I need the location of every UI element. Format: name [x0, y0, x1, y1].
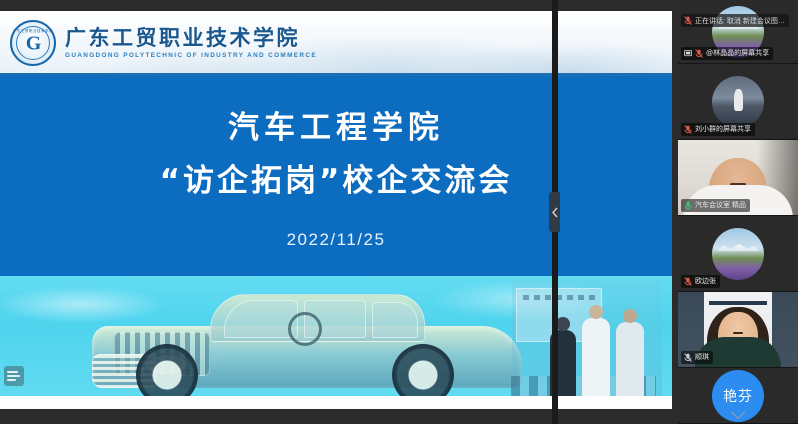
school-logo: 广东工贸职业技术学院 G 广东工贸职业技术学院 GUANGDONG POLYTE… — [10, 20, 317, 66]
participant-badge: 刘小群的屏幕共享 — [681, 123, 755, 136]
participant-tile[interactable]: 欧边张 — [678, 216, 798, 292]
speaking-indicator: 正在讲话: 取消 新建会议图… — [681, 14, 789, 27]
participant-name: 欧边张 — [695, 275, 716, 288]
avatar — [712, 76, 764, 128]
avatar-initial: 艳芬 — [723, 386, 753, 406]
participant-tile[interactable]: 顺琪 — [678, 292, 798, 368]
participant-badge: 欧边张 — [681, 275, 720, 288]
participant-name: 刘小群的屏幕共享 — [695, 123, 751, 136]
school-crest-icon: 广东工贸职业技术学院 G — [10, 20, 56, 66]
slide-title-block: 汽车工程学院 “访企拓岗”校企交流会 2022/11/25 — [0, 76, 672, 276]
participant-name: @林晶晶的屏幕共享 — [706, 47, 769, 60]
chevron-left-icon — [552, 207, 558, 218]
slide-title-line1: 汽车工程学院 — [228, 102, 444, 147]
mic-active-icon — [684, 201, 692, 210]
participant-tile[interactable]: 艳芬 — [678, 368, 798, 424]
avatar — [712, 228, 764, 280]
slide-date: 2022/11/25 — [287, 230, 386, 250]
school-name-cn: 广东工贸职业技术学院 — [65, 27, 317, 51]
chevron-down-icon — [731, 405, 745, 419]
mic-muted-icon — [684, 125, 692, 134]
slide-header: 广东工贸职业技术学院 G 广东工贸职业技术学院 GUANGDONG POLYTE… — [0, 11, 672, 76]
scroll-down-button[interactable] — [733, 407, 743, 419]
mic-muted-icon — [695, 49, 703, 58]
presentation-slide: 广东工贸职业技术学院 G 广东工贸职业技术学院 GUANGDONG POLYTE… — [0, 11, 672, 409]
school-name-block: 广东工贸职业技术学院 GUANGDONG POLYTECHNIC OF INDU… — [65, 27, 317, 59]
participant-badge: 顺琪 — [681, 351, 713, 364]
participant-tile[interactable]: 正在讲话: 取消 新建会议图… @林晶晶的屏幕共享 — [678, 0, 798, 64]
presenter-list-icon[interactable] — [4, 366, 24, 386]
participant-badge: 汽车会议室 精品 — [681, 199, 750, 212]
mic-muted-icon — [684, 353, 692, 362]
training-scene-illustration — [512, 278, 662, 406]
participant-rail[interactable]: 正在讲话: 取消 新建会议图… @林晶晶的屏幕共享 — [678, 0, 798, 424]
participant-tile[interactable]: 汽车会议室 精品 — [678, 140, 798, 216]
collapse-panel-button[interactable] — [549, 192, 560, 232]
mic-muted-icon — [684, 16, 692, 25]
shared-screen-stage[interactable]: 广东工贸职业技术学院 G 广东工贸职业技术学院 GUANGDONG POLYTE… — [0, 0, 678, 424]
mic-muted-icon — [684, 277, 692, 286]
screen-share-icon — [684, 49, 692, 58]
school-name-en: GUANGDONG POLYTECHNIC OF INDUSTRY AND CO… — [65, 52, 317, 59]
conference-window: 广东工贸职业技术学院 G 广东工贸职业技术学院 GUANGDONG POLYTE… — [0, 0, 798, 424]
slide-title-line2: “访企拓岗”校企交流会 — [160, 155, 513, 200]
participant-badge: @林晶晶的屏幕共享 — [681, 47, 773, 60]
crest-monogram: G — [26, 32, 41, 55]
participant-name: 顺琪 — [695, 351, 709, 364]
slide-photo — [0, 276, 672, 406]
participant-name: 汽车会议室 精品 — [695, 199, 746, 212]
speaking-name: 正在讲话: 取消 新建会议图… — [695, 16, 785, 26]
xray-car-illustration — [92, 282, 522, 402]
participant-tile[interactable]: 刘小群的屏幕共享 — [678, 64, 798, 140]
